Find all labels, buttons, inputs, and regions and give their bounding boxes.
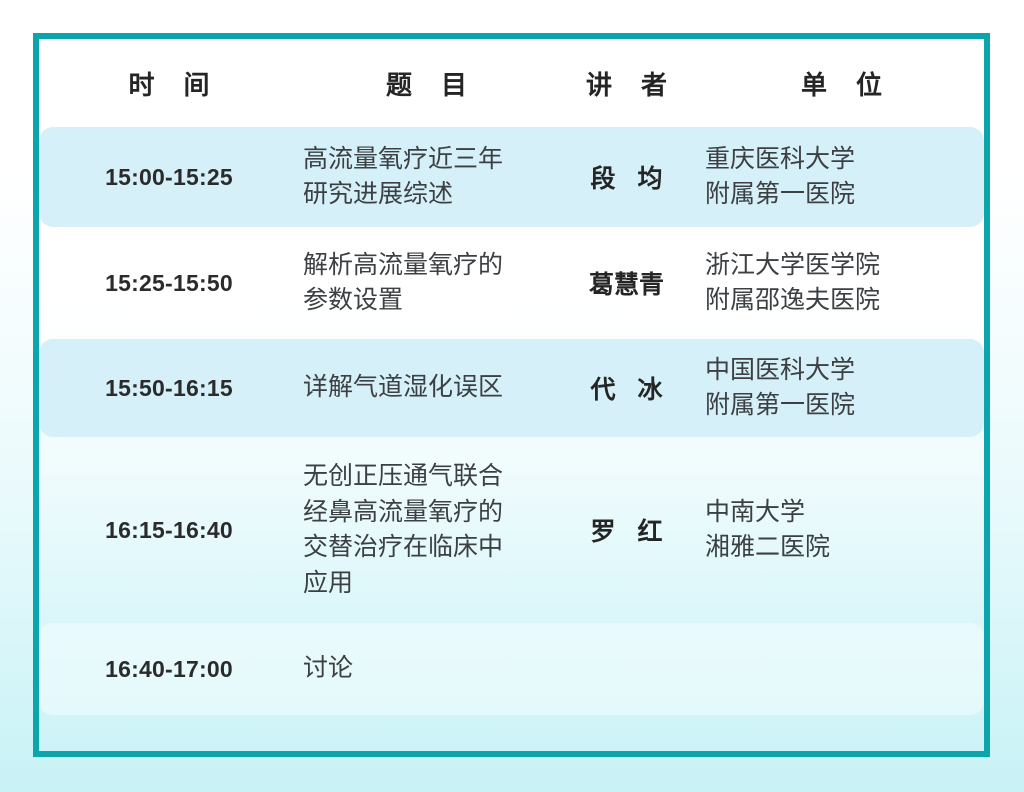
- cell-time: 16:15-16:40: [39, 517, 299, 544]
- table-row[interactable]: 15:25-15:50 解析高流量氧疗的 参数设置 葛慧青 浙江大学医学院 附属…: [39, 227, 984, 339]
- table-row[interactable]: 15:50-16:15 详解气道湿化误区 代 冰 中国医科大学 附属第一医院: [39, 339, 984, 437]
- cell-time: 15:50-16:15: [39, 375, 299, 402]
- unit-line: 附属第一医院: [705, 388, 984, 424]
- cell-time: 15:00-15:25: [39, 164, 299, 191]
- title-line: 研究进展综述: [303, 177, 554, 213]
- unit-line: 中国医科大学: [705, 353, 984, 389]
- unit-line: 附属邵逸夫医院: [705, 283, 984, 319]
- title-line: 参数设置: [303, 283, 554, 319]
- cell-title: 无创正压通气联合 经鼻高流量氧疗的 交替治疗在临床中 应用: [299, 459, 554, 601]
- cell-title: 高流量氧疗近三年 研究进展综述: [299, 142, 554, 213]
- cell-title: 解析高流量氧疗的 参数设置: [299, 248, 554, 319]
- agenda-card-inner: 时 间 题 目 讲 者 单 位 15:00-15:25 高流量氧疗近三年 研究进…: [39, 39, 984, 751]
- column-header-title: 题 目: [299, 65, 554, 102]
- unit-line: 浙江大学医学院: [705, 248, 984, 284]
- cell-title: 详解气道湿化误区: [299, 370, 554, 406]
- unit-line: 附属第一医院: [705, 177, 984, 213]
- cell-speaker: 代 冰: [554, 370, 699, 406]
- cell-speaker: 葛慧青: [554, 265, 699, 301]
- agenda-card: 时 间 题 目 讲 者 单 位 15:00-15:25 高流量氧疗近三年 研究进…: [33, 33, 990, 757]
- table-row[interactable]: 16:15-16:40 无创正压通气联合 经鼻高流量氧疗的 交替治疗在临床中 应…: [39, 437, 984, 623]
- title-line: 经鼻高流量氧疗的: [303, 495, 554, 531]
- cell-unit: 中南大学 湘雅二医院: [699, 495, 984, 566]
- cell-time: 16:40-17:00: [39, 656, 299, 683]
- table-row[interactable]: 16:40-17:00 讨论: [39, 623, 984, 715]
- cell-speaker: 罗 红: [554, 512, 699, 548]
- unit-line: 湘雅二医院: [705, 530, 984, 566]
- table-row[interactable]: 15:00-15:25 高流量氧疗近三年 研究进展综述 段 均 重庆医科大学 附…: [39, 127, 984, 227]
- cell-unit: 浙江大学医学院 附属邵逸夫医院: [699, 248, 984, 319]
- cell-unit: 重庆医科大学 附属第一医院: [699, 142, 984, 213]
- cell-time: 15:25-15:50: [39, 270, 299, 297]
- title-line: 应用: [303, 566, 554, 602]
- cell-unit: 中国医科大学 附属第一医院: [699, 353, 984, 424]
- agenda-page: 时 间 题 目 讲 者 单 位 15:00-15:25 高流量氧疗近三年 研究进…: [0, 0, 1024, 792]
- column-header-unit: 单 位: [699, 65, 984, 102]
- title-line: 详解气道湿化误区: [303, 370, 554, 406]
- table-header-row: 时 间 题 目 讲 者 单 位: [39, 39, 984, 127]
- title-line: 高流量氧疗近三年: [303, 142, 554, 178]
- column-header-speaker: 讲 者: [554, 65, 699, 102]
- cell-speaker: 段 均: [554, 159, 699, 195]
- table-body: 15:00-15:25 高流量氧疗近三年 研究进展综述 段 均 重庆医科大学 附…: [39, 127, 984, 715]
- title-line: 解析高流量氧疗的: [303, 248, 554, 284]
- title-line: 交替治疗在临床中: [303, 530, 554, 566]
- unit-line: 重庆医科大学: [705, 142, 984, 178]
- title-line: 无创正压通气联合: [303, 459, 554, 495]
- column-header-time: 时 间: [39, 65, 299, 102]
- unit-line: 中南大学: [705, 495, 984, 531]
- cell-title: 讨论: [299, 651, 554, 687]
- title-line: 讨论: [303, 651, 554, 687]
